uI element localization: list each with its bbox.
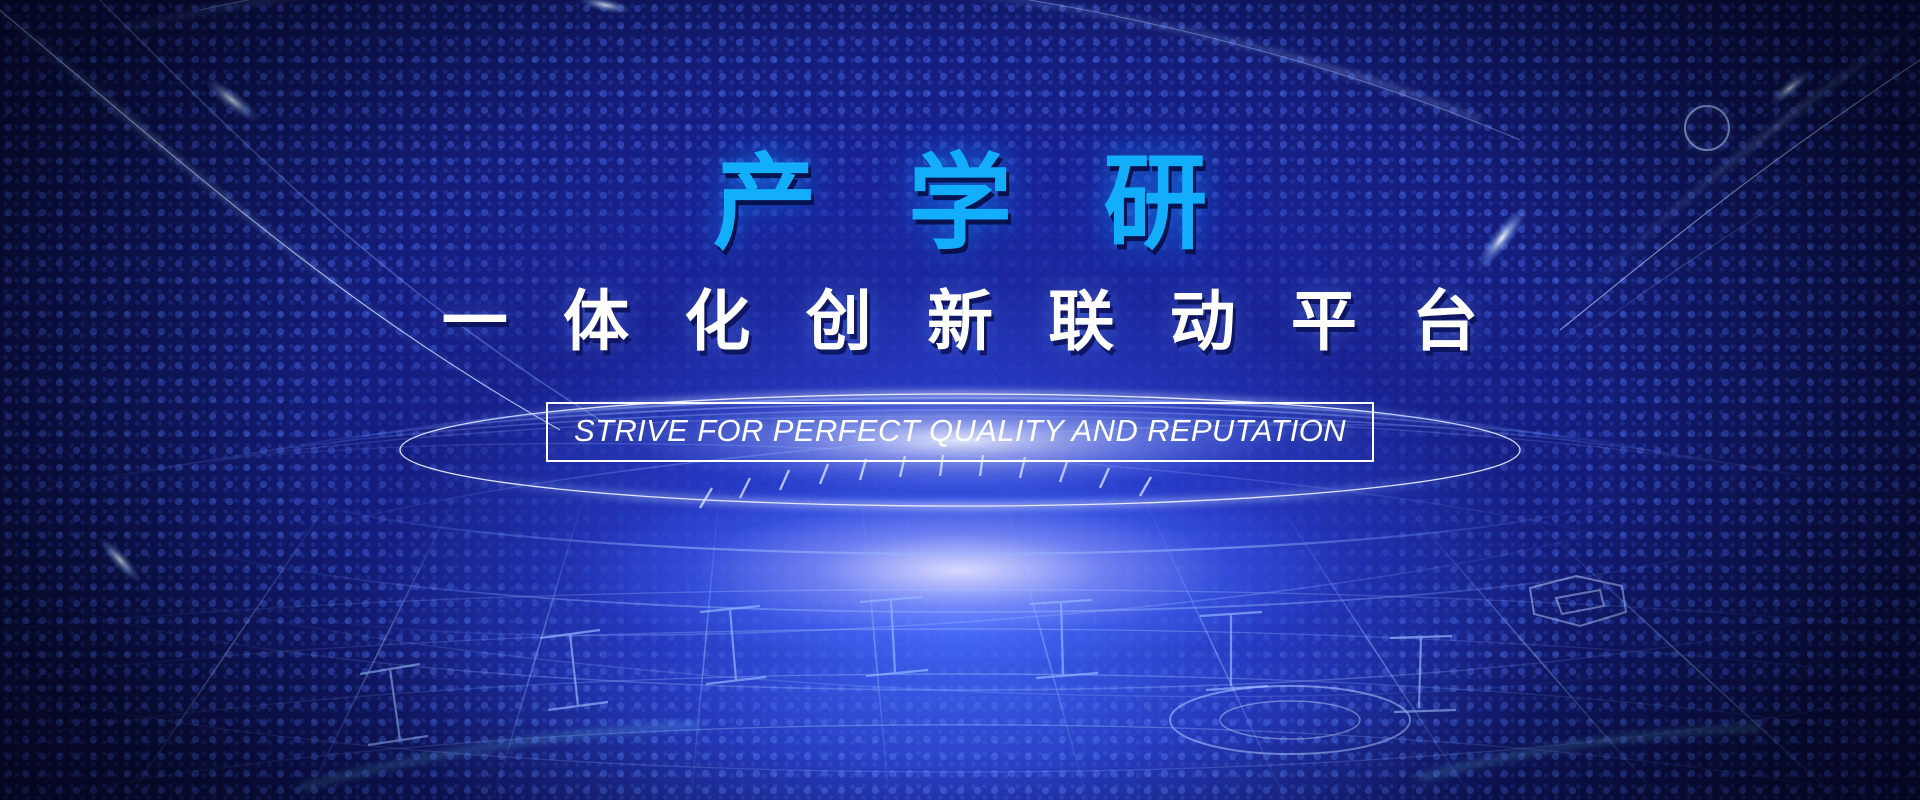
banner-content: 产 学 研 一 体 化 创 新 联 动 平 台 STRIVE FOR PERFE… xyxy=(0,0,1920,800)
page-title: 产 学 研 xyxy=(682,150,1239,259)
slogan-text: STRIVE FOR PERFECT QUALITY AND REPUTATIO… xyxy=(574,413,1346,449)
page-subtitle: 一 体 化 创 新 联 动 平 台 xyxy=(423,285,1496,358)
banner-root: 产 学 研 一 体 化 创 新 联 动 平 台 STRIVE FOR PERFE… xyxy=(0,0,1920,800)
slogan-box: STRIVE FOR PERFECT QUALITY AND REPUTATIO… xyxy=(546,402,1374,462)
